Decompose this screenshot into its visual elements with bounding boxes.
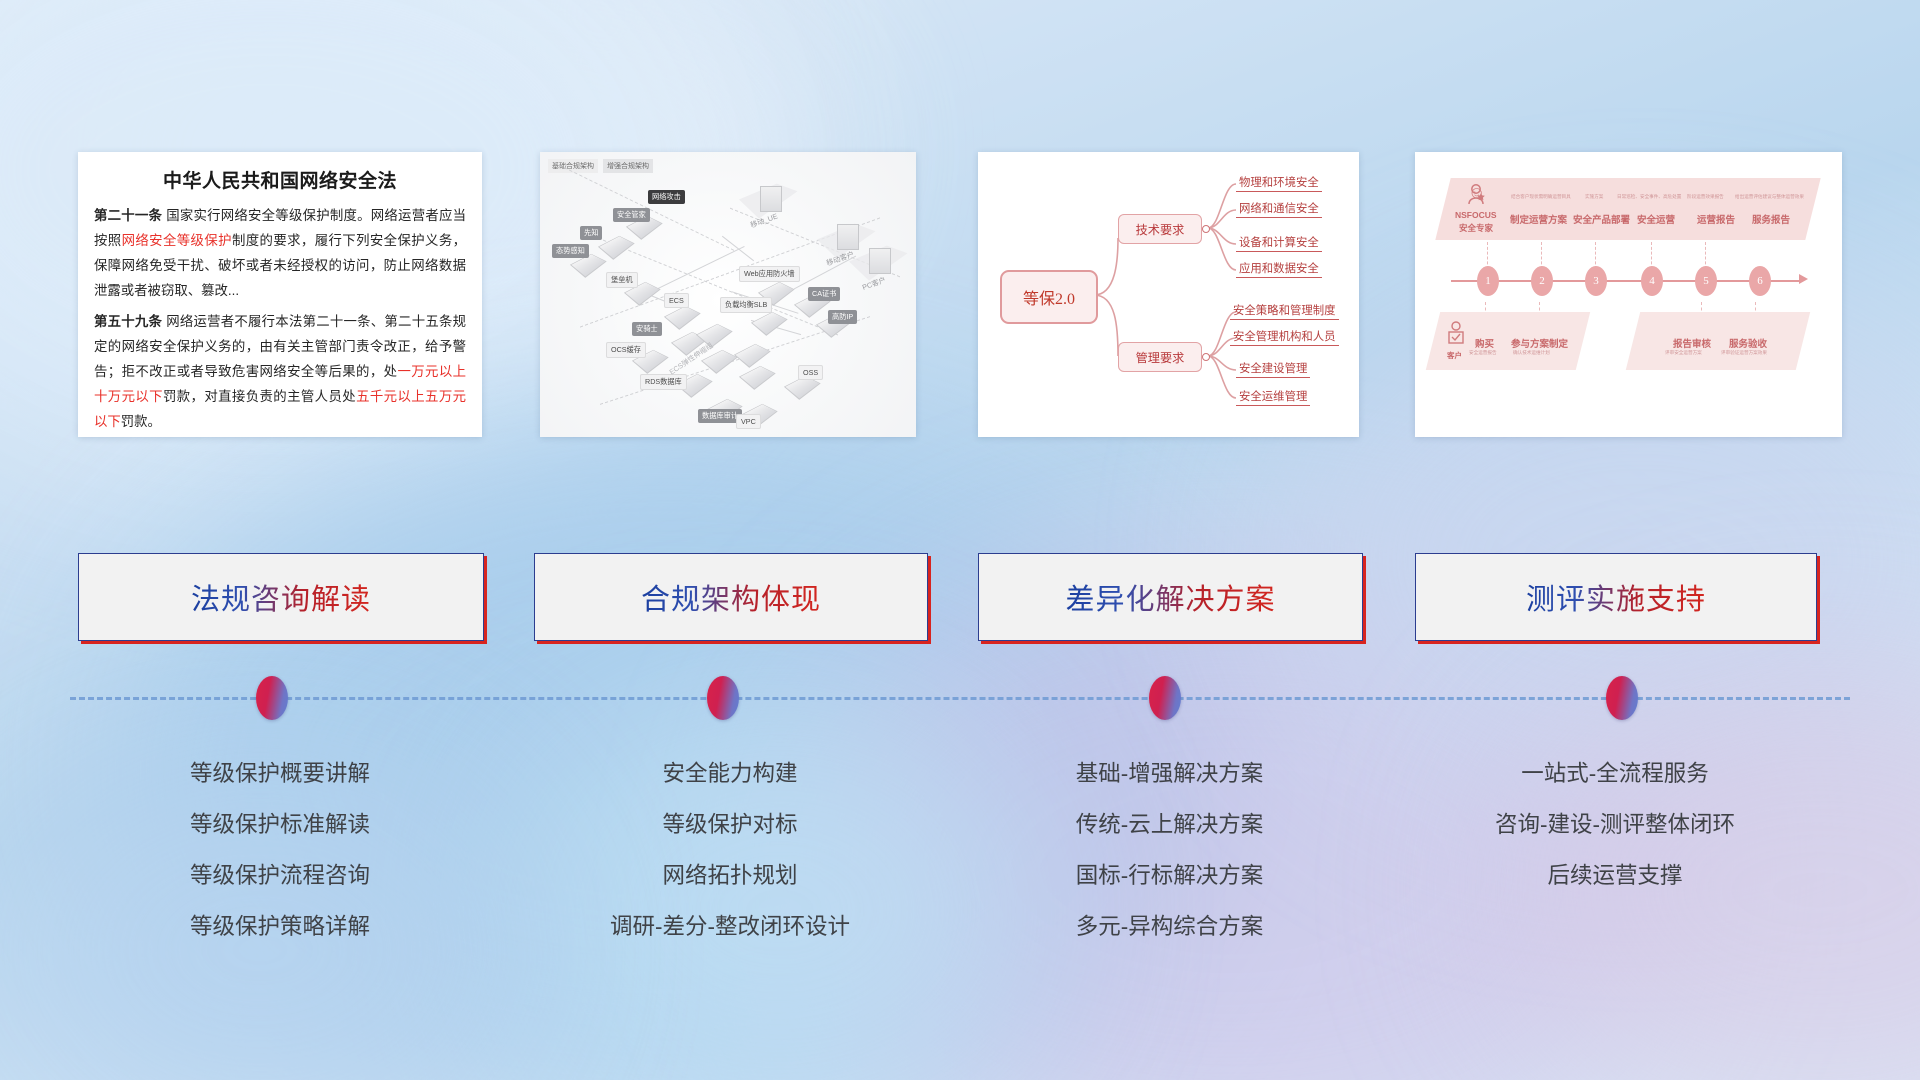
arch-cube-slb <box>751 312 788 336</box>
roadmap-step-number-6: 6 <box>1749 266 1771 296</box>
arch-monitor-mobile-client <box>837 224 859 250</box>
roadmap-top-step-4: 运营报告 <box>1697 212 1735 226</box>
title-box-regulation-consulting[interactable]: 法规咨询解读 <box>78 553 484 641</box>
expert-avatar-icon <box>1463 182 1489 208</box>
arch-link-2 <box>722 236 754 261</box>
mindmap-node-dot-technical <box>1202 225 1210 233</box>
list-item: 一站式-全流程服务 <box>1415 748 1815 799</box>
arch-monitor-mobile <box>760 186 782 212</box>
arch-link-1 <box>645 246 744 295</box>
card-dengbao-mindmap[interactable]: 等保2.0 技术要求 物理和环境安全 网络和通信安全 设备和计算安全 应用和数据… <box>978 152 1359 437</box>
timeline-dot-2[interactable] <box>707 676 739 720</box>
arch-label-ecs: ECS <box>664 293 689 308</box>
list-item: 网络拓扑规划 <box>534 850 926 901</box>
mindmap-leaf-app-data: 应用和数据安全 <box>1236 260 1322 278</box>
arch-label-situational: 态势感知 <box>552 244 589 258</box>
arch-label-xianzhi: 先知 <box>580 226 602 240</box>
arch-label-oss: OSS <box>798 365 823 380</box>
list-item: 传统-云上解决方案 <box>978 799 1361 850</box>
mindmap-leaf-policy-system: 安全策略和管理制度 <box>1230 302 1339 320</box>
title-text-3: 差异化解决方案 <box>1065 576 1275 618</box>
roadmap-top-band <box>1435 178 1820 240</box>
roadmap-top-sub-1: 结合客户现状需明确运营目具 <box>1511 194 1571 200</box>
feature-list-1: 等级保护概要讲解 等级保护标准解读 等级保护流程咨询 等级保护策略详解 <box>78 748 482 952</box>
law-article-59-text-3: 罚款。 <box>121 414 161 429</box>
title-box-compliance-architecture[interactable]: 合规架构体现 <box>534 553 928 641</box>
arch-label-attack: 网络攻击 <box>648 190 685 204</box>
card-service-roadmap[interactable]: ☺ NSFOCUS 安全专家 结合客户现状需明确运营目具 实施方案 日常巡检、安… <box>1415 152 1842 437</box>
list-item: 安全能力构建 <box>534 748 926 799</box>
mindmap-leaf-construction: 安全建设管理 <box>1236 360 1310 378</box>
roadmap-bottom-sub-1: 安全运营报告 <box>1469 350 1497 356</box>
roadmap-bottom-step-2: 参与方案制定 <box>1511 336 1568 350</box>
law-body: 第二十一条 国家实行网络安全等级保护制度。网络运营者应当按照网络安全等级保护制度… <box>78 203 482 437</box>
roadmap-bottom-step-3: 报告审核 <box>1673 336 1711 350</box>
arch-label-security-butler: 安全管家 <box>613 208 650 222</box>
roadmap-bottom-sub-2: 确认技术运维计划 <box>1513 350 1550 356</box>
expert-role: 安全专家 <box>1459 222 1493 234</box>
roadmap-top-sub-2: 实施方案 <box>1585 194 1603 200</box>
roadmap-step-number-1: 1 <box>1477 266 1499 296</box>
roadmap-axis-arrow-icon <box>1799 274 1808 284</box>
mindmap-leaf-network-comm: 网络和通信安全 <box>1236 200 1322 218</box>
roadmap-top-step-1: 制定运营方案 <box>1510 212 1567 226</box>
list-item: 基础-增强解决方案 <box>978 748 1361 799</box>
list-item: 等级保护对标 <box>534 799 926 850</box>
roadmap-bottom-step-4: 服务验收 <box>1729 336 1767 350</box>
law-article-59-label: 第五十九条 <box>94 314 162 329</box>
arch-label-ca: CA证书 <box>808 287 840 301</box>
roadmap-bottom-step-1: 购买 <box>1475 336 1494 350</box>
mindmap-branch-technical[interactable]: 技术要求 <box>1118 214 1202 244</box>
timeline-dot-1[interactable] <box>256 676 288 720</box>
mindmap-leaf-physical-env: 物理和环境安全 <box>1236 174 1322 192</box>
roadmap-bottom-sub-3: 评审安全运营方案 <box>1665 350 1702 356</box>
title-text-1: 法规咨询解读 <box>191 576 371 618</box>
customer-avatar-icon <box>1445 320 1467 346</box>
timeline-dot-4[interactable] <box>1606 676 1638 720</box>
arch-label-bastion: 堡垒机 <box>606 272 638 288</box>
list-item: 后续运营支撑 <box>1415 850 1815 901</box>
list-item: 国标-行标解决方案 <box>978 850 1361 901</box>
feature-list-4: 一站式-全流程服务 咨询-建设-测评整体闭环 后续运营支撑 <box>1415 748 1815 901</box>
expert-name: NSFOCUS <box>1455 210 1497 220</box>
list-item: 多元-异构综合方案 <box>978 901 1361 952</box>
law-article-21-label: 第二十一条 <box>94 208 162 223</box>
list-item: 调研-差分-整改闭环设计 <box>534 901 926 952</box>
mindmap-leaf-operations: 安全运维管理 <box>1236 388 1310 406</box>
card-cybersecurity-law[interactable]: 中华人民共和国网络安全法 第二十一条 国家实行网络安全等级保护制度。网络运营者应… <box>78 152 482 437</box>
roadmap-top-sub-4: 阶段运营效果报告 <box>1687 194 1724 200</box>
arch-cube-ecs-group-4 <box>739 366 776 390</box>
law-article-59-text-2: 罚款，对直接负责的主管人员处 <box>163 389 356 404</box>
roadmap-top-sub-3: 日常巡检、安全事件、高危处置 <box>1617 194 1681 200</box>
mindmap-leaf-device-compute: 设备和计算安全 <box>1236 234 1322 252</box>
roadmap-bottom-sub-4: 评审验证运营方案效果 <box>1721 350 1767 356</box>
roadmap-top-sub-5: 给出运营评估建议与整体运营效果 <box>1735 194 1804 200</box>
mindmap-leaf-org-personnel: 安全管理机构和人员 <box>1230 328 1339 346</box>
title-text-4: 测评实施支持 <box>1526 576 1706 618</box>
list-item: 等级保护策略详解 <box>78 901 482 952</box>
arch-label-waf: Web应用防火墙 <box>739 266 800 282</box>
mindmap-root-node[interactable]: 等保2.0 <box>1000 270 1098 324</box>
arch-label-gaofang: 高防IP <box>828 310 857 324</box>
timeline-dot-3[interactable] <box>1149 676 1181 720</box>
title-box-differentiated-solution[interactable]: 差异化解决方案 <box>978 553 1363 641</box>
card-compliance-architecture[interactable]: 基础合规架构 增强合规架构 <box>540 152 916 437</box>
roadmap-top-step-5: 服务报告 <box>1752 212 1790 226</box>
roadmap-step-number-4: 4 <box>1641 266 1663 296</box>
roadmap-step-number-5: 5 <box>1695 266 1717 296</box>
law-title: 中华人民共和国网络安全法 <box>78 166 482 193</box>
feature-list-2: 安全能力构建 等级保护对标 网络拓扑规划 调研-差分-整改闭环设计 <box>534 748 926 952</box>
architecture-diagram: 基础合规架构 增强合规架构 <box>540 152 916 437</box>
timeline-dashed-line <box>70 697 1850 700</box>
arch-monitor-pc-client <box>869 248 891 274</box>
arch-tab-enhanced[interactable]: 增强合规架构 <box>603 159 653 173</box>
arch-label-slb: 负载均衡SLB <box>720 297 772 313</box>
roadmap-step-number-3: 3 <box>1585 266 1607 296</box>
list-item: 等级保护流程咨询 <box>78 850 482 901</box>
roadmap-top-step-2: 安全产品部署 <box>1573 212 1630 226</box>
list-item: 等级保护概要讲解 <box>78 748 482 799</box>
title-text-2: 合规架构体现 <box>641 576 821 618</box>
arch-cube-ecs <box>664 306 701 330</box>
roadmap-top-step-3: 安全运营 <box>1637 212 1675 226</box>
arch-cube-ecs-group-3 <box>734 344 771 368</box>
roadmap-bottom-band-right <box>1626 312 1810 370</box>
title-box-assessment-support[interactable]: 测评实施支持 <box>1415 553 1817 641</box>
arch-label-rds: RDS数据库 <box>640 374 687 390</box>
list-item: 咨询-建设-测评整体闭环 <box>1415 799 1815 850</box>
arch-label-pc-client: PC客户 <box>857 272 892 296</box>
roadmap-step-number-2: 2 <box>1531 266 1553 296</box>
list-item: 等级保护标准解读 <box>78 799 482 850</box>
arch-label-anqishi: 安骑士 <box>632 322 662 336</box>
mindmap-node-dot-management <box>1202 353 1210 361</box>
arch-label-vpc: VPC <box>736 414 761 429</box>
customer-label: 客户 <box>1447 350 1462 361</box>
arch-label-ocs: OCS缓存 <box>606 342 646 358</box>
law-article-21-highlight: 网络安全等级保护 <box>122 233 232 248</box>
feature-list-3: 基础-增强解决方案 传统-云上解决方案 国标-行标解决方案 多元-异构综合方案 <box>978 748 1361 952</box>
mindmap-branch-management[interactable]: 管理要求 <box>1118 342 1202 372</box>
